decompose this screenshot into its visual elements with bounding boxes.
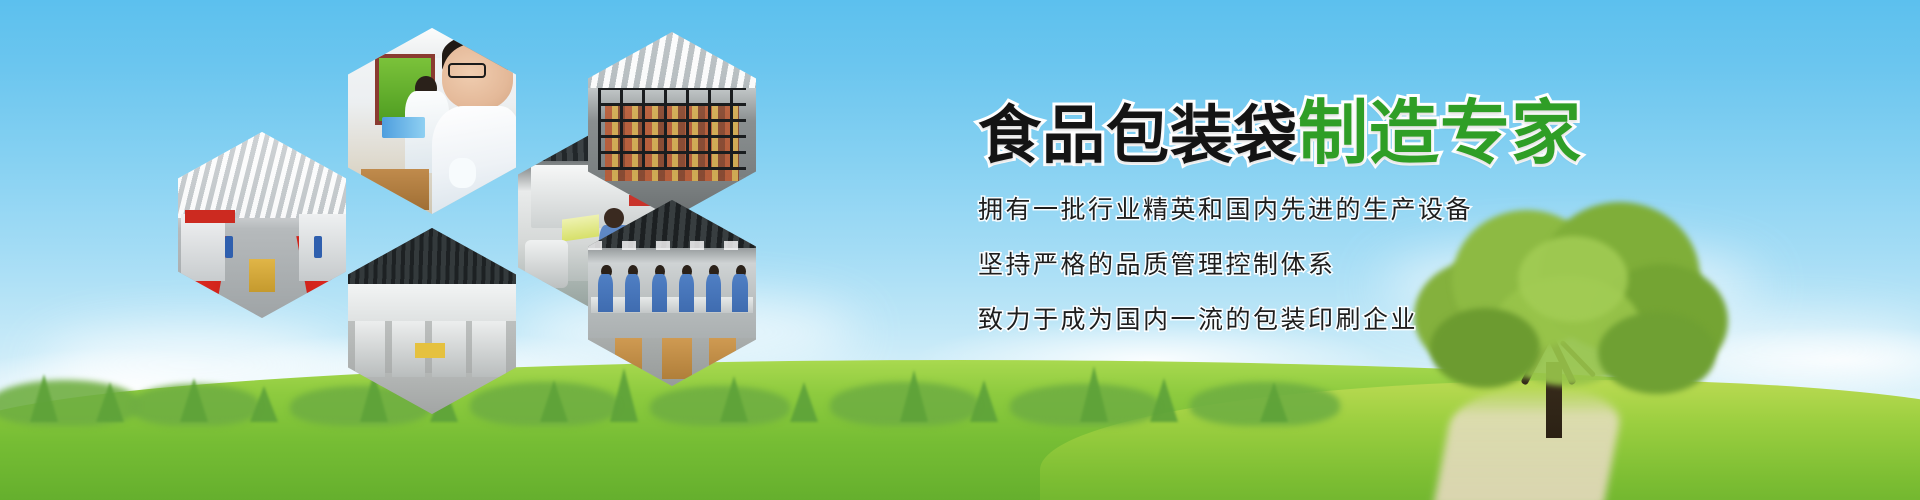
subtitle-list: 拥有一批行业精英和国内先进的生产设备 坚持严格的品质管理控制体系 致力于成为国内…: [978, 198, 1738, 333]
banner-text-block: 食品包装袋制造专家 拥有一批行业精英和国内先进的生产设备 坚持严格的品质管理控制…: [978, 98, 1738, 363]
subtitle-line-1: 拥有一批行业精英和国内先进的生产设备: [978, 198, 1738, 223]
subtitle-line-3: 致力于成为国内一流的包装印刷企业: [978, 308, 1738, 333]
page-title: 食品包装袋制造专家: [978, 98, 1738, 168]
headline-dark-text: 食品包装袋: [978, 101, 1298, 171]
promo-banner: 食品包装袋制造专家 拥有一批行业精英和国内先进的生产设备 坚持严格的品质管理控制…: [0, 0, 1920, 500]
hex-photo-printing-press-hall: [178, 132, 346, 318]
hex-photo-quality-inspection-lab: [348, 28, 516, 214]
hexagon-photo-cluster: [0, 0, 820, 380]
subtitle-line-2: 坚持严格的品质管理控制体系: [978, 253, 1738, 278]
headline-green-text: 制造专家: [1298, 94, 1582, 172]
